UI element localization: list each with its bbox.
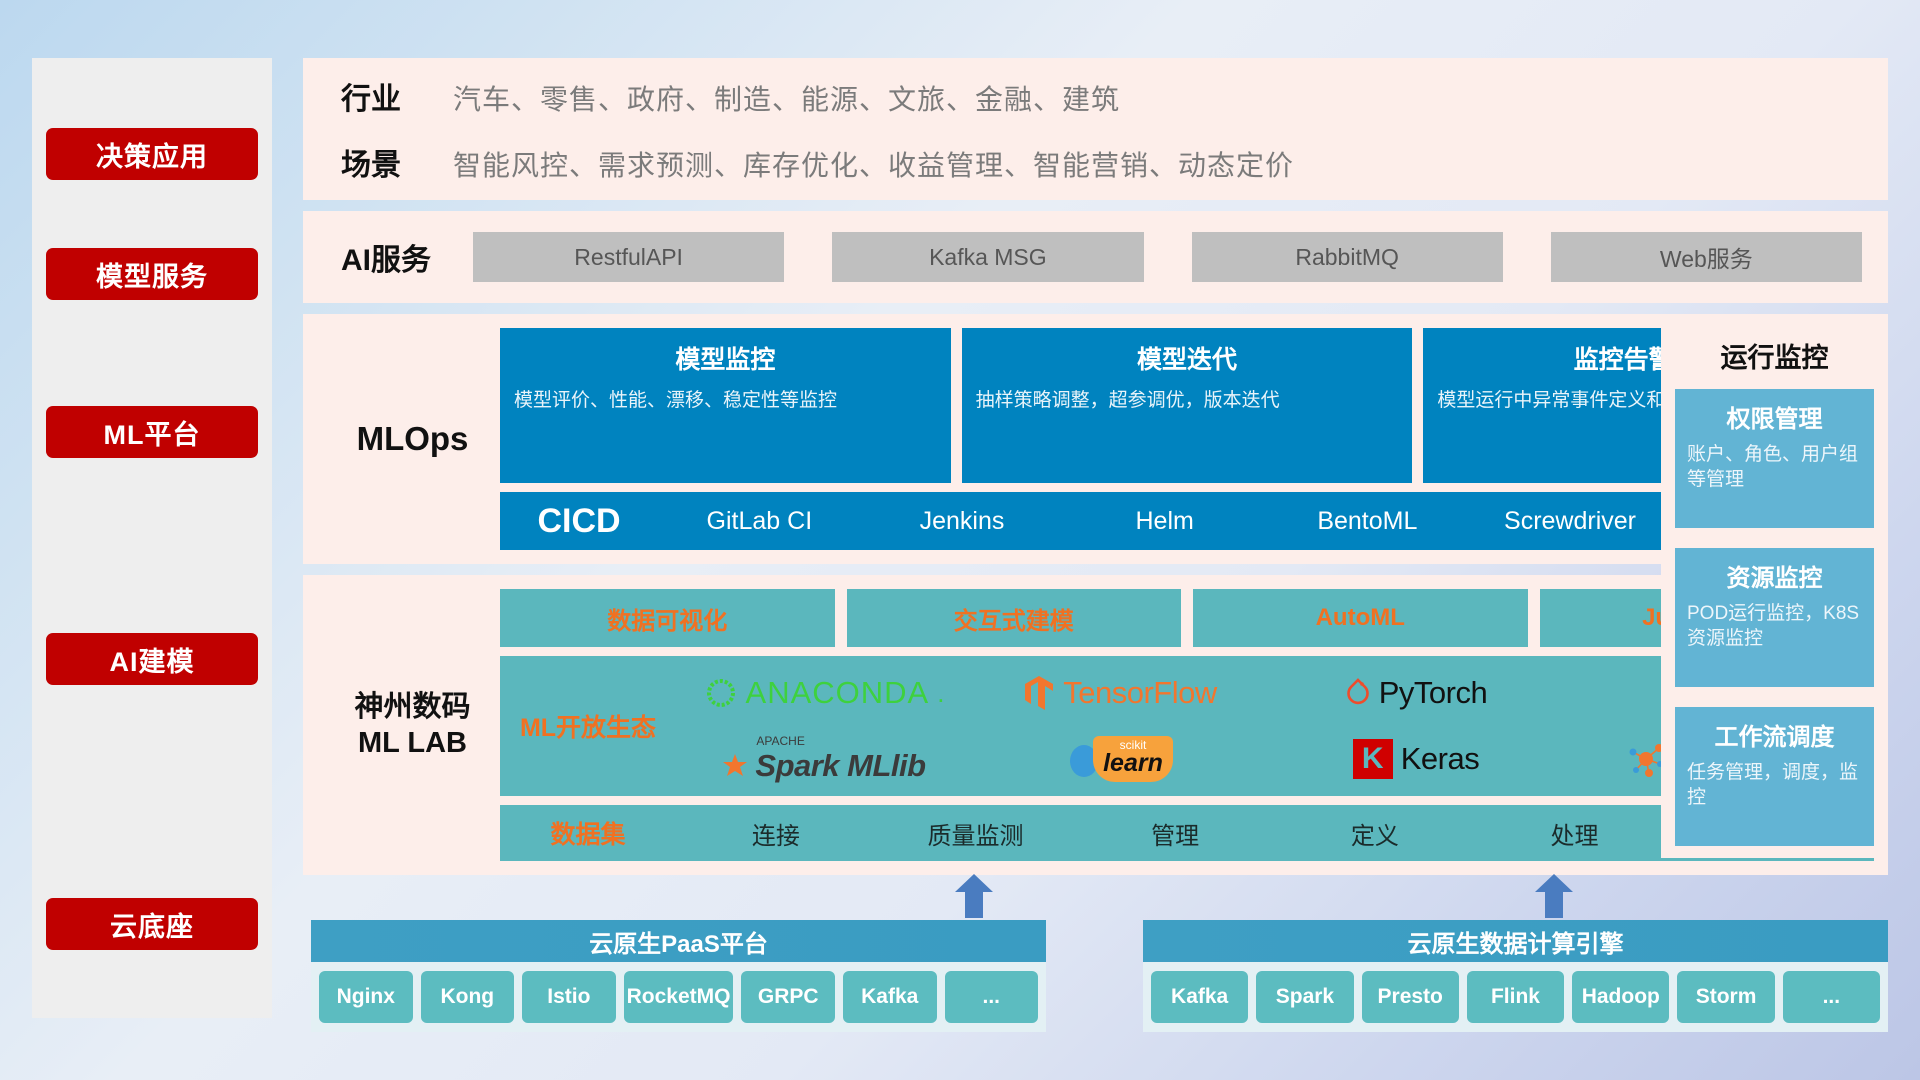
up-arrow-icon-data-engine: [1533, 874, 1575, 918]
ml-lab-tool-interactive-modeling[interactable]: 交互式建模: [847, 589, 1182, 647]
mlops-card-model-monitoring[interactable]: 模型监控 模型评价、性能、漂移、稳定性等监控: [500, 328, 951, 483]
dataset-item[interactable]: 定义: [1275, 816, 1475, 851]
layer-pill-label: 决策应用: [96, 135, 208, 174]
rr-card-desc: 任务管理，调度，监控: [1687, 760, 1862, 810]
layer-pill-decision[interactable]: 决策应用: [46, 128, 258, 180]
tensorflow-logo-text: TensorFlow: [1063, 675, 1217, 711]
cicd-item[interactable]: BentoML: [1266, 506, 1469, 537]
runtime-monitoring-rail: 运行监控 权限管理 账户、角色、用户组等管理 资源监控 POD运行监控，K8S资…: [1661, 318, 1888, 858]
layer-pill-label: ML平台: [104, 413, 201, 452]
tensorflow-logo: TensorFlow: [1023, 674, 1217, 712]
pytorch-logo: PyTorch: [1345, 675, 1487, 711]
cloud-foundation-area: 云原生PaaS平台 Nginx Kong Istio RocketMQ GRPC…: [303, 898, 1888, 1028]
anaconda-mark-icon: [704, 676, 738, 710]
layer-pill-cloud-base[interactable]: 云底座: [46, 898, 258, 950]
ml-lab-label-line1: 神州数码: [354, 689, 470, 725]
layer-pill-label: 模型服务: [96, 255, 208, 294]
ml-lab-tool-data-visualization[interactable]: 数据可视化: [500, 589, 835, 647]
data-engine-chip[interactable]: Spark: [1256, 971, 1353, 1023]
rr-card-workflow-scheduling[interactable]: 工作流调度 任务管理，调度，监控: [1675, 707, 1874, 846]
ai-service-box[interactable]: Kafka MSG: [832, 232, 1143, 282]
mlops-card-title: 模型迭代: [976, 340, 1399, 376]
cloud-native-paas-title: 云原生PaaS平台: [311, 920, 1046, 962]
mlops-card-desc: 模型评价、性能、漂移、稳定性等监控: [514, 388, 937, 413]
main-stack: 行业 汽车、零售、政府、制造、能源、文旅、金融、建筑 场景 智能风控、需求预测、…: [303, 58, 1888, 886]
dataset-title: 数据集: [500, 815, 676, 851]
scenario-row: 场景 智能风控、需求预测、库存优化、收益管理、智能营销、动态定价: [341, 140, 1888, 184]
data-engine-chip[interactable]: Kafka: [1151, 971, 1248, 1023]
architecture-diagram: 决策应用 模型服务 ML平台 AI建模 云底座 行业 汽车、零售、政府、制造、能…: [0, 0, 1920, 1080]
runtime-monitoring-card-list: 权限管理 账户、角色、用户组等管理 资源监控 POD运行监控，K8S资源监控 工…: [1675, 389, 1874, 846]
data-engine-chip[interactable]: Presto: [1362, 971, 1459, 1023]
rr-card-resource-monitoring[interactable]: 资源监控 POD运行监控，K8S资源监控: [1675, 548, 1874, 687]
mlops-card-title: 模型监控: [514, 340, 937, 376]
spark-mllib-logo-text: Spark MLlib: [755, 748, 925, 784]
scikit-learn-logo-text: learn: [1103, 752, 1163, 776]
paas-chip[interactable]: Nginx: [319, 971, 413, 1023]
cloud-native-data-engine-group: 云原生数据计算引擎 Kafka Spark Presto Flink Hadoo…: [1143, 920, 1888, 1032]
ai-modeling-band: 神州数码 ML LAB 数据可视化 交互式建模 AutoML JupyterLa…: [303, 575, 1888, 875]
rr-card-title: 资源监控: [1687, 558, 1862, 593]
spark-apache-text: APACHE: [756, 734, 804, 748]
rr-card-permission-management[interactable]: 权限管理 账户、角色、用户组等管理: [1675, 389, 1874, 528]
pytorch-mark-icon: [1345, 676, 1371, 710]
cicd-item[interactable]: GitLab CI: [658, 506, 861, 537]
layer-pill-model-service[interactable]: 模型服务: [46, 248, 258, 300]
ai-service-band: AI服务 RestfulAPI Kafka MSG RabbitMQ Web服务: [303, 211, 1888, 303]
decision-application-band: 行业 汽车、零售、政府、制造、能源、文旅、金融、建筑 场景 智能风控、需求预测、…: [303, 58, 1888, 200]
ai-service-box[interactable]: RabbitMQ: [1192, 232, 1503, 282]
ml-lab-tool-automl[interactable]: AutoML: [1193, 589, 1528, 647]
paas-chip-more[interactable]: ...: [945, 971, 1039, 1023]
layer-pill-label: AI建模: [110, 640, 195, 679]
industry-row: 行业 汽车、零售、政府、制造、能源、文旅、金融、建筑: [341, 74, 1888, 118]
cicd-item[interactable]: Helm: [1063, 506, 1266, 537]
data-engine-chip-more[interactable]: ...: [1783, 971, 1880, 1023]
paas-chip[interactable]: GRPC: [741, 971, 835, 1023]
rr-card-title: 工作流调度: [1687, 717, 1862, 752]
paas-chip[interactable]: RocketMQ: [624, 971, 734, 1023]
keras-logo: K Keras: [1353, 739, 1479, 779]
data-engine-chip[interactable]: Hadoop: [1572, 971, 1669, 1023]
cicd-item[interactable]: Screwdriver: [1469, 506, 1672, 537]
up-arrow-icon-paas: [953, 874, 995, 918]
spark-star-icon: [722, 753, 748, 779]
runtime-monitoring-title: 运行监控: [1675, 330, 1874, 389]
rr-card-title: 权限管理: [1687, 399, 1862, 434]
dataset-item[interactable]: 连接: [676, 816, 876, 851]
dataset-item[interactable]: 处理: [1475, 816, 1675, 851]
cicd-title: CICD: [500, 502, 658, 541]
scikit-learn-logo: scikit learn: [1067, 736, 1173, 782]
application-rows: 行业 汽车、零售、政府、制造、能源、文旅、金融、建筑 场景 智能风控、需求预测、…: [341, 74, 1888, 184]
mlops-label: MLOps: [325, 328, 500, 550]
ai-service-label: AI服务: [341, 235, 473, 279]
ai-service-box[interactable]: Web服务: [1551, 232, 1862, 282]
ml-open-ecosystem-title: ML开放生态: [500, 656, 676, 796]
paas-chip[interactable]: Kong: [421, 971, 515, 1023]
cloud-native-paas-chip-list: Nginx Kong Istio RocketMQ GRPC Kafka ...: [311, 962, 1046, 1032]
scikit-learn-badge: scikit learn: [1093, 736, 1173, 782]
layer-pill-ai-modeling[interactable]: AI建模: [46, 633, 258, 685]
dataset-item[interactable]: 质量监测: [876, 816, 1076, 851]
scenario-value: 智能风控、需求预测、库存优化、收益管理、智能营销、动态定价: [453, 144, 1294, 184]
cloud-native-paas-group: 云原生PaaS平台 Nginx Kong Istio RocketMQ GRPC…: [311, 920, 1046, 1032]
keras-logo-text: Keras: [1401, 741, 1479, 777]
mlops-card-desc: 抽样策略调整，超参调优，版本迭代: [976, 388, 1399, 413]
layer-pill-ml-platform[interactable]: ML平台: [46, 406, 258, 458]
anaconda-logo-text: ANACONDA: [746, 675, 930, 711]
tensorflow-mark-icon: [1023, 674, 1055, 712]
scenario-label: 场景: [341, 140, 453, 184]
data-engine-chip[interactable]: Storm: [1677, 971, 1774, 1023]
spark-mllib-logo: APACHE Spark MLlib: [722, 734, 925, 784]
rr-card-desc: 账户、角色、用户组等管理: [1687, 442, 1862, 492]
dataset-item[interactable]: 管理: [1075, 816, 1275, 851]
left-layer-rail: 决策应用 模型服务 ML平台 AI建模 云底座: [32, 58, 272, 1018]
keras-mark-icon: K: [1353, 739, 1393, 779]
pytorch-logo-text: PyTorch: [1379, 675, 1487, 711]
cloud-native-data-engine-chip-list: Kafka Spark Presto Flink Hadoop Storm ..…: [1143, 962, 1888, 1032]
paas-chip[interactable]: Istio: [522, 971, 616, 1023]
industry-label: 行业: [341, 74, 453, 118]
anaconda-logo-dot: .: [937, 678, 944, 709]
cicd-item[interactable]: Jenkins: [861, 506, 1064, 537]
cloud-native-data-engine-title: 云原生数据计算引擎: [1143, 920, 1888, 962]
ml-lab-label-line2: ML LAB: [358, 725, 467, 761]
data-engine-chip[interactable]: Flink: [1467, 971, 1564, 1023]
industry-value: 汽车、零售、政府、制造、能源、文旅、金融、建筑: [453, 78, 1120, 118]
paas-chip[interactable]: Kafka: [843, 971, 937, 1023]
ml-platform-band: MLOps 模型监控 模型评价、性能、漂移、稳定性等监控 模型迭代 抽样策略调整…: [303, 314, 1888, 564]
ml-lab-label: 神州数码 ML LAB: [325, 589, 500, 861]
mlops-card-model-iteration[interactable]: 模型迭代 抽样策略调整，超参调优，版本迭代: [962, 328, 1413, 483]
anaconda-logo: ANACONDA .: [704, 675, 945, 711]
layer-pill-label: 云底座: [110, 905, 194, 944]
rr-card-desc: POD运行监控，K8S资源监控: [1687, 601, 1862, 651]
ai-service-box[interactable]: RestfulAPI: [473, 232, 784, 282]
ai-service-box-list: RestfulAPI Kafka MSG RabbitMQ Web服务: [473, 232, 1862, 282]
